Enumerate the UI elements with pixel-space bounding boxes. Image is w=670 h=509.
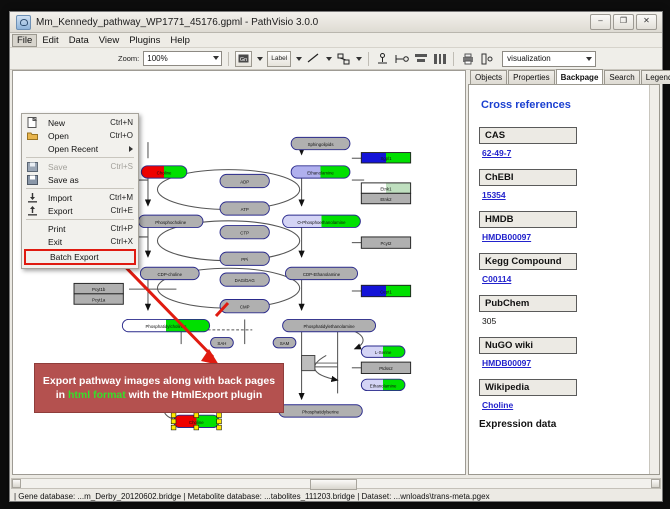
distribute-icon[interactable] [432, 52, 447, 66]
menu-item-label: Save [48, 162, 67, 172]
import-icon [27, 192, 38, 203]
horizontal-scrollbar[interactable] [11, 478, 661, 489]
node-label: Pcyt2 [381, 241, 392, 246]
node-label: Etnk2 [380, 197, 392, 202]
cross-reference-entry: CAS62-49-7 [479, 125, 649, 158]
file-menu-item-print[interactable]: PrintCtrl+P [22, 222, 138, 235]
main-area: SphingolipidsCholineEthanolamineADPATPPh… [10, 68, 662, 477]
pathway-metabolite-node[interactable]: Phosphatidylserine [279, 405, 362, 417]
pathway-metabolite-node[interactable]: SAH [211, 337, 234, 347]
backpage-content: Cross references CAS62-49-7ChEBI15354HMD… [468, 84, 660, 475]
pathway-gene-node[interactable]: Sgpl1 [361, 153, 410, 163]
pathway-gene-node[interactable]: Ptdss2 [361, 362, 410, 373]
menu-item-label: Open Recent [48, 144, 98, 154]
menu-plugins[interactable]: Plugins [124, 34, 165, 47]
reference-link[interactable]: C00114 [482, 274, 649, 284]
maximize-button[interactable]: ❐ [613, 14, 634, 30]
toolbar-separator [228, 52, 229, 66]
reference-link[interactable]: 15354 [482, 190, 649, 200]
status-bar: | Gene database: ...m_Derby_20120602.bri… [10, 478, 662, 501]
menu-item-shortcut: Ctrl+N [110, 118, 133, 127]
label-dropdown-icon[interactable] [296, 57, 302, 61]
pathway-metabolite-node[interactable]: O-Phosphoethanolamine [283, 215, 361, 227]
node-label: CDP-choline [158, 272, 183, 277]
pathway-metabolite-node[interactable]: CDP-choline [140, 267, 199, 279]
node-label: Phosphatidylethanolamine [304, 324, 356, 329]
annotation-callout: Export pathway images along with back pa… [34, 363, 284, 413]
title-bar: Mm_Kennedy_pathway_WP1771_45176.gpml - P… [10, 12, 662, 33]
stack-icon[interactable] [479, 52, 494, 66]
pathway-metabolite-node[interactable]: DAG/DAG [220, 273, 269, 286]
callout-text-highlight: html format [68, 389, 126, 401]
menu-item-shortcut: Ctrl+M [109, 193, 133, 202]
menu-divider [26, 219, 134, 220]
scroll-thumb[interactable] [310, 479, 357, 490]
reference-source: Kegg Compound [479, 253, 577, 270]
tab-backpage[interactable]: Backpage [556, 69, 604, 85]
node-label: Pcyt1a [92, 297, 106, 302]
application-window: Mm_Kennedy_pathway_WP1771_45176.gpml - P… [9, 11, 663, 502]
node-label: Ethanolamine [307, 170, 334, 175]
pathway-gene-node[interactable]: Pcyt2 [361, 237, 410, 248]
menu-item-label: Print [48, 224, 65, 234]
line-dropdown-icon[interactable] [326, 57, 332, 61]
pathway-metabolite-node[interactable]: CDP-Ethanolamine [285, 267, 357, 279]
file-menu-item-open-recent[interactable]: Open Recent [22, 142, 138, 155]
selection-handle[interactable] [171, 413, 176, 418]
selection-handle[interactable] [217, 413, 222, 418]
node-label: Ethanolamine [370, 383, 397, 388]
minimize-button[interactable]: – [590, 14, 611, 30]
backpage-scrollbar[interactable] [649, 85, 659, 474]
interaction-icon[interactable] [394, 52, 409, 66]
file-menu-dropdown[interactable]: NewCtrl+NOpenCtrl+OOpen RecentSaveCtrl+S… [21, 113, 139, 269]
node-label: Cept1 [380, 289, 392, 294]
node-label: ATP [241, 207, 249, 212]
cross-reference-entry: NuGO wikiHMDB00097 [479, 335, 649, 368]
pathway-metabolite-node[interactable]: SAM [273, 337, 296, 347]
pathway-gene-node[interactable]: Etnk1 [361, 183, 410, 193]
selection-handle[interactable] [171, 425, 176, 430]
pathway-metabolite-node[interactable]: L-Serine [361, 346, 405, 357]
align-icon[interactable] [413, 52, 428, 66]
cross-reference-entry: PubChem305 [479, 293, 649, 326]
zoom-label: Zoom: [118, 54, 139, 63]
right-panel: Objects Properties Backpage Search Legen… [468, 70, 660, 475]
status-text: | Gene database: ...m_Derby_20120602.bri… [10, 489, 662, 501]
file-menu-item-save: SaveCtrl+S [22, 160, 138, 173]
selection-handle[interactable] [171, 419, 176, 424]
cross-references-list: CAS62-49-7ChEBI15354HMDBHMDB00097Kegg Co… [479, 125, 649, 410]
reference-link[interactable]: Choline [482, 400, 649, 410]
node-label: Choline [189, 420, 204, 425]
chevron-down-icon [586, 57, 592, 61]
reference-link[interactable]: HMDB00097 [482, 232, 649, 242]
pathway-metabolite-node[interactable]: ADP [220, 174, 269, 187]
cross-reference-entry: ChEBI15354 [479, 167, 649, 200]
svg-text:Gn: Gn [240, 57, 247, 63]
reference-source: PubChem [479, 295, 577, 312]
menu-edit[interactable]: Edit [37, 34, 63, 47]
line-icon[interactable] [306, 52, 321, 66]
anchor-icon[interactable] [375, 52, 390, 66]
pathway-metabolite-node[interactable]: Sphingolipids [291, 137, 350, 149]
shape-dropdown-icon[interactable] [356, 57, 362, 61]
menu-item-shortcut: Ctrl+O [110, 131, 133, 140]
menu-bar: File Edit Data View Plugins Help [10, 33, 662, 48]
tab-properties[interactable]: Properties [508, 70, 554, 84]
node-label: Ptdss2 [379, 366, 393, 371]
pathway-metabolite-node[interactable]: Phosphatidylcholines [122, 319, 209, 331]
toolbar-separator-2 [368, 52, 369, 66]
toolbar: Zoom: 100% Gn Label [10, 48, 662, 70]
selection-handle[interactable] [194, 425, 199, 430]
toolbar-separator-3 [453, 52, 454, 66]
menu-item-label: Open [48, 131, 69, 141]
visualization-value: visualization [507, 54, 551, 63]
cross-reference-entry: WikipediaCholine [479, 377, 649, 410]
reference-source: ChEBI [479, 169, 577, 186]
menu-item-label: Exit [48, 237, 62, 247]
selection-handle[interactable] [217, 425, 222, 430]
pathway-metabolite-node[interactable]: Choline [171, 413, 221, 430]
chevron-down-icon [213, 56, 219, 60]
menu-item-label: New [48, 118, 65, 128]
node-label: Choline [157, 170, 172, 175]
file-menu-item-batch-export[interactable]: Batch Export [24, 249, 136, 265]
menu-item-shortcut: Ctrl+P [111, 224, 133, 233]
node-label: Phosphatidylserine [302, 409, 339, 414]
export-icon [27, 205, 38, 216]
label-button[interactable]: Label [267, 51, 291, 67]
file-menu-item-save-as[interactable]: Save as [22, 173, 138, 186]
pathway-metabolite-node[interactable]: CMP [220, 300, 269, 313]
node-label: Etnk1 [380, 186, 392, 191]
pathway-metabolite-node[interactable]: Ethanolamine [291, 166, 350, 178]
node-label: PPi [241, 257, 248, 262]
node-label: O-Phosphoethanolamine [297, 220, 346, 225]
menu-item-shortcut: Ctrl+E [111, 206, 133, 215]
visualization-select[interactable]: visualization [502, 51, 596, 67]
tab-legend[interactable]: Legend [641, 70, 670, 84]
menu-file[interactable]: File [12, 34, 37, 47]
cross-references-title: Cross references [481, 99, 649, 111]
file-menu-item-new[interactable]: NewCtrl+N [22, 116, 138, 129]
selection-handle[interactable] [217, 419, 222, 424]
menu-item-shortcut: Ctrl+S [111, 162, 133, 171]
close-button[interactable]: ✕ [636, 14, 657, 30]
menu-divider [26, 188, 134, 189]
pathway-gene-node[interactable]: Pcyt1b [74, 283, 123, 293]
datanode-icon[interactable]: Gn [235, 51, 252, 67]
menu-item-label: Save as [48, 175, 79, 185]
reference-source: Wikipedia [479, 379, 577, 396]
node-label: Phosphatidylcholines [146, 324, 188, 329]
node-label: SAH [217, 341, 226, 346]
datanode-dropdown-icon[interactable] [257, 57, 263, 61]
node-label: DAG/DAG [235, 278, 256, 283]
shape-icon[interactable] [336, 52, 351, 66]
open-folder-icon [27, 130, 38, 141]
reference-value: 305 [482, 316, 649, 326]
window-title: Mm_Kennedy_pathway_WP1771_45176.gpml - P… [36, 17, 318, 28]
node-label: Pcyt1b [92, 287, 106, 292]
selection-handle[interactable] [194, 413, 199, 418]
cross-reference-entry: HMDBHMDB00097 [479, 209, 649, 242]
node-label: Sgpl1 [380, 156, 392, 161]
menu-item-label: Export [48, 206, 73, 216]
reference-source: NuGO wiki [479, 337, 577, 354]
save-disk-icon [27, 161, 38, 172]
node-label: CDP-Ethanolamine [303, 272, 341, 277]
cross-reference-entry: Kegg CompoundC00114 [479, 251, 649, 284]
file-menu-item-import[interactable]: ImportCtrl+M [22, 191, 138, 204]
menu-view[interactable]: View [94, 34, 124, 47]
reference-link[interactable]: HMDB00097 [482, 358, 649, 368]
pathvisio-icon [16, 15, 31, 30]
pathway-metabolite-node[interactable]: Phosphatidylethanolamine [283, 319, 376, 331]
pathway-metabolite-node[interactable]: Ethanolamine [361, 379, 405, 390]
node-label: Sphingolipids [308, 142, 335, 147]
pathway-metabolite-node[interactable]: CTP [220, 226, 269, 239]
pathway-metabolite-node[interactable]: Choline [141, 166, 187, 178]
scroll-right-arrow[interactable] [651, 479, 660, 488]
menu-item-label: Batch Export [50, 252, 99, 262]
print-icon[interactable] [460, 52, 475, 66]
callout-text-2: with the HtmlExport plugin [126, 389, 263, 401]
pathway-gene-node[interactable]: Pcyt1a [74, 294, 123, 304]
zoom-value: 100% [147, 54, 167, 63]
expression-data-title: Expression data [479, 419, 649, 430]
node-label: ADP [240, 179, 249, 184]
reference-source: HMDB [479, 211, 577, 228]
pathway-metabolite-node[interactable]: ATP [220, 202, 269, 215]
scroll-left-arrow[interactable] [12, 479, 21, 488]
node-label: SAM [280, 341, 290, 346]
screenshot-frame: Mm_Kennedy_pathway_WP1771_45176.gpml - P… [0, 0, 670, 509]
pathway-metabolite-node[interactable]: PPi [220, 252, 269, 265]
pathway-gene-node[interactable]: Cept1 [361, 285, 410, 296]
reference-link[interactable]: 62-49-7 [482, 148, 649, 158]
node-label: CTP [240, 231, 249, 236]
pathway-metabolite-node[interactable]: Phosphocholine [138, 215, 202, 227]
tab-search[interactable]: Search [604, 70, 639, 84]
reference-source: CAS [479, 127, 577, 144]
pathway-gene-node[interactable]: Etnk2 [361, 193, 410, 203]
window-controls: – ❐ ✕ [590, 14, 659, 30]
menu-item-label: Import [48, 193, 72, 203]
file-menu-item-export[interactable]: ExportCtrl+E [22, 204, 138, 217]
node-label: L-Serine [375, 350, 392, 355]
file-menu-item-exit[interactable]: ExitCtrl+X [22, 235, 138, 248]
save-as-icon [27, 174, 38, 185]
file-menu-item-open[interactable]: OpenCtrl+O [22, 129, 138, 142]
node-label: Phosphocholine [155, 220, 187, 225]
tab-objects[interactable]: Objects [470, 70, 507, 84]
menu-help[interactable]: Help [165, 34, 195, 47]
zoom-select[interactable]: 100% [143, 51, 222, 66]
panel-tabs: Objects Properties Backpage Search Legen… [468, 70, 660, 84]
menu-item-shortcut: Ctrl+X [111, 237, 133, 246]
node-label: CMP [240, 305, 250, 310]
new-document-icon [27, 117, 38, 128]
menu-data[interactable]: Data [64, 34, 94, 47]
pathway-canvas[interactable]: SphingolipidsCholineEthanolamineADPATPPh… [12, 70, 466, 475]
menu-divider [26, 157, 134, 158]
